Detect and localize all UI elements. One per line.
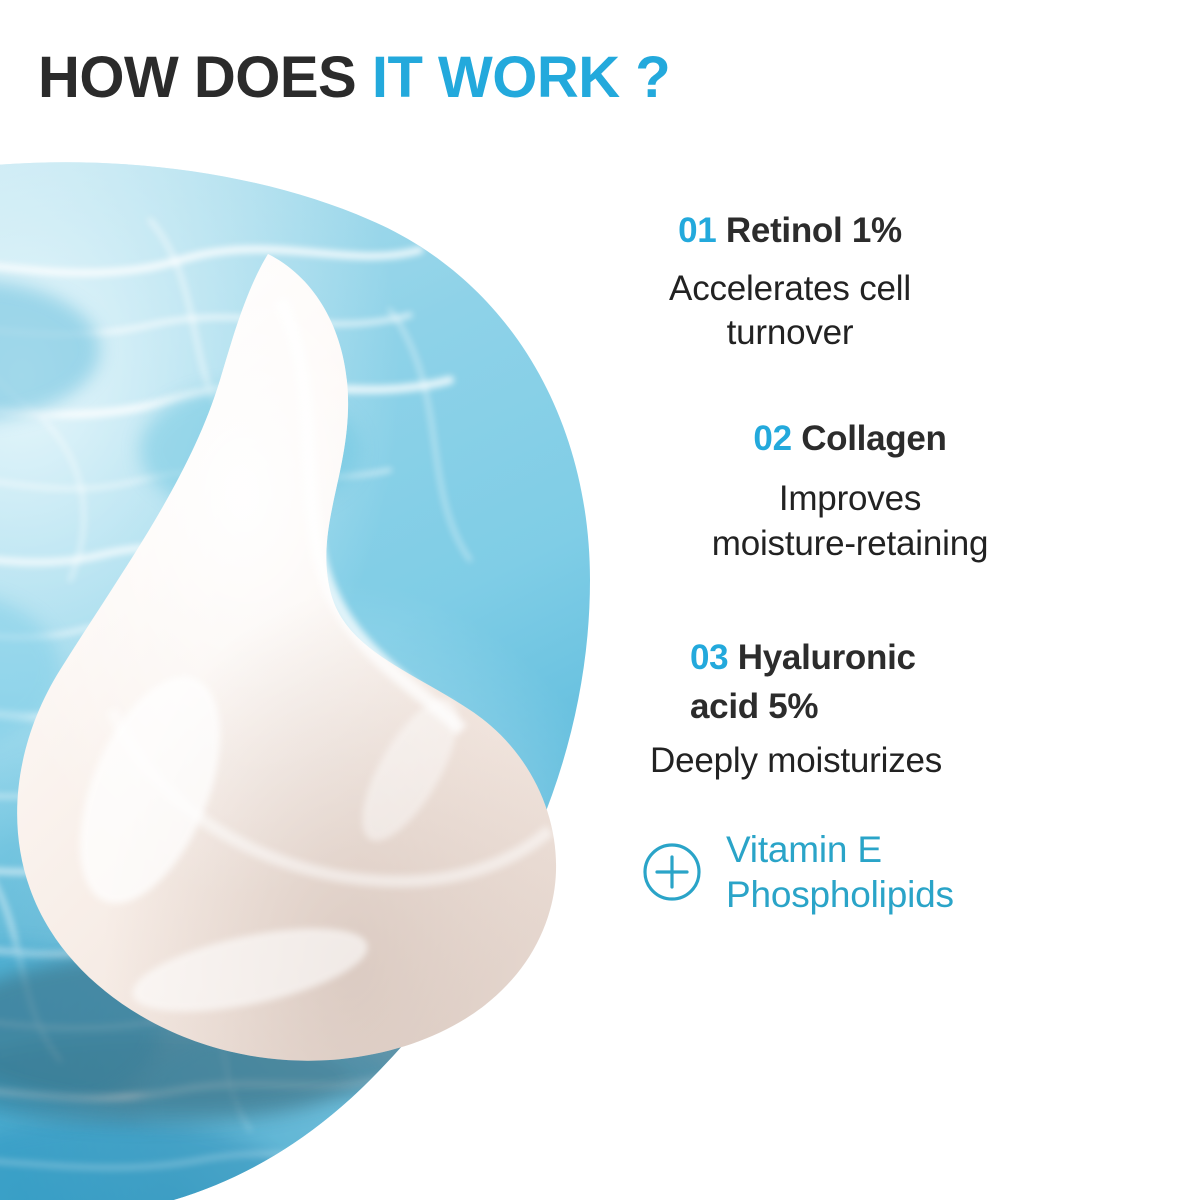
ingredient-item-02: 02 Collagen Improves moisture-retaining [600, 418, 1180, 566]
extra-ingredient-text: Vitamin E Phospholipids [726, 827, 954, 917]
plus-circle-icon [640, 840, 704, 904]
water-texture-blob [0, 150, 610, 1200]
ingredient-desc-03: Deeply moisturizes [650, 739, 1180, 784]
infographic-canvas: HOW DOES IT WORK ? [0, 0, 1200, 1200]
ingredient-title-03: 03 Hyaluronic acid 5% [690, 633, 1180, 731]
ingredient-number-01: 01 [678, 211, 716, 250]
ingredient-desc-02-line1: Improves [600, 477, 1100, 522]
ingredient-number-02: 02 [753, 419, 791, 458]
ingredient-title-02: 02 Collagen [600, 418, 1100, 461]
ingredient-item-01: 01 Retinol 1% Accelerates cell turnover [600, 210, 1180, 356]
ingredient-list: 01 Retinol 1% Accelerates cell turnover … [600, 210, 1180, 918]
page-title: HOW DOES IT WORK ? [38, 48, 670, 109]
page-title-accent: IT WORK ? [372, 45, 670, 110]
page-title-dark: HOW DOES [38, 45, 372, 110]
ingredient-item-03: 03 Hyaluronic acid 5% Deeply moisturizes [600, 633, 1180, 784]
ingredient-desc-01-line2: turnover [600, 311, 980, 356]
ingredient-name-02: Collagen [801, 419, 946, 458]
ingredient-desc-02: Improves moisture-retaining [600, 477, 1100, 567]
ingredient-name-01: Retinol 1% [726, 211, 902, 250]
ingredient-name-03-line1: Hyaluronic [738, 638, 916, 677]
ingredient-number-03: 03 [690, 638, 728, 677]
ingredient-desc-02-line2: moisture-retaining [600, 522, 1100, 567]
ingredient-title-01: 01 Retinol 1% [600, 210, 980, 253]
product-artwork [0, 150, 610, 1200]
ingredient-desc-03-line1: Deeply moisturizes [650, 739, 1180, 784]
extra-ingredient-line1: Vitamin E [726, 827, 954, 872]
extra-ingredient-row: Vitamin E Phospholipids [640, 827, 1180, 917]
ingredient-desc-01: Accelerates cell turnover [600, 267, 980, 357]
ingredient-name-03-line2: acid 5% [690, 682, 1180, 731]
ingredient-desc-01-line1: Accelerates cell [600, 267, 980, 312]
extra-ingredient-line2: Phospholipids [726, 872, 954, 917]
